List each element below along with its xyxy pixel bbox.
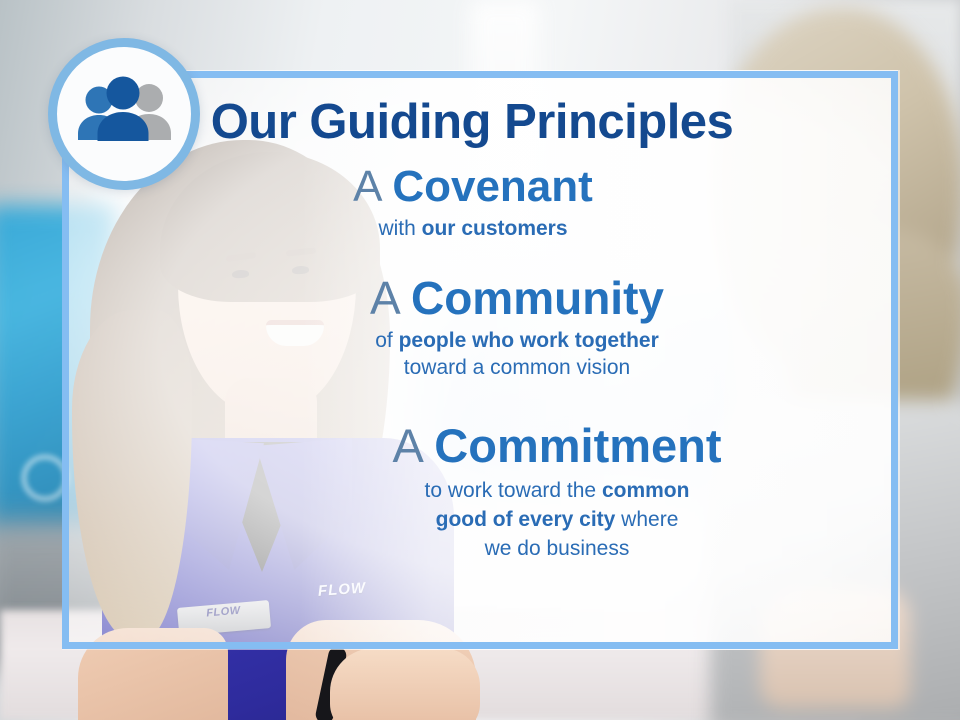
principle-community-heading: A Community bbox=[170, 274, 864, 324]
principle-commitment-heading: A Commitment bbox=[250, 421, 864, 472]
principle-community-word: Community bbox=[411, 272, 664, 324]
covenant-sub-bold: our customers bbox=[422, 217, 568, 240]
principle-covenant-heading: A Covenant bbox=[82, 163, 864, 211]
principle-commitment: A Commitment to work toward the common g… bbox=[62, 421, 864, 563]
principle-community: A Community of people who work together … bbox=[62, 274, 864, 382]
commitment-sub-bold1: common bbox=[602, 479, 690, 502]
principle-community-subtext: of people who work together toward a com… bbox=[170, 327, 864, 381]
page-title: Our Guiding Principles bbox=[80, 93, 864, 151]
commitment-sub-prefix: to work toward the bbox=[425, 479, 602, 502]
community-sub-bold: people who work together bbox=[399, 329, 659, 352]
principle-covenant-word: Covenant bbox=[392, 162, 592, 211]
commitment-sub-bold2: good of every city bbox=[436, 508, 616, 531]
principle-commitment-subtext: to work toward the common good of every … bbox=[250, 476, 864, 563]
community-sub-line2: toward a common vision bbox=[404, 356, 630, 379]
principle-community-article: A bbox=[370, 272, 398, 324]
principle-covenant-subtext: with our customers bbox=[82, 215, 864, 242]
principle-commitment-article: A bbox=[392, 419, 421, 472]
commitment-sub-line3: we do business bbox=[485, 537, 630, 560]
covenant-sub-prefix: with bbox=[378, 217, 421, 240]
commitment-sub-suffix: where bbox=[615, 508, 678, 531]
graphic-canvas: FLOW FLOW Our Guiding Principles A bbox=[0, 0, 960, 720]
principle-covenant: A Covenant with our customers bbox=[62, 163, 864, 242]
principle-commitment-word: Commitment bbox=[434, 419, 721, 472]
text-content: Our Guiding Principles A Covenant with o… bbox=[62, 71, 898, 649]
principle-covenant-article: A bbox=[353, 162, 380, 211]
employee-hands bbox=[330, 648, 480, 720]
community-sub-prefix: of bbox=[375, 329, 398, 352]
